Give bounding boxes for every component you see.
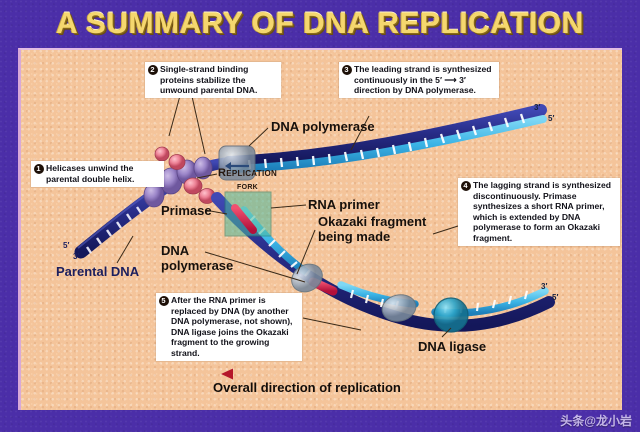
label-okazaki-fragment-line2: being made (318, 230, 390, 244)
label-parental-dna: Parental DNA (56, 265, 139, 279)
end-label-leading-5-prime: 5′ (548, 114, 554, 123)
callout-4-number: 4 (461, 181, 471, 191)
label-dna-polymerase-lagging-line2: polymerase (161, 259, 233, 273)
callout-1-text: Helicases unwind the parental double hel… (46, 163, 134, 184)
label-primase: Primase (161, 204, 212, 218)
label-dna-polymerase-lagging-line1: DNA (161, 244, 189, 258)
watermark: 头条@龙小岩 (560, 412, 632, 429)
callout-5-text: After the RNA primer is replaced by DNA … (171, 295, 292, 358)
primase-complex (225, 192, 271, 236)
label-dna-ligase: DNA ligase (418, 340, 486, 354)
diagram-frame: A SUMMARY OF DNA REPLICATION (0, 0, 640, 432)
end-label-lagging-3-prime: 3′ (541, 282, 547, 291)
overall-direction-arrow (221, 369, 435, 380)
label-dna-polymerase-leading: DNA polymerase (271, 120, 375, 134)
diagram-panel: 1 Helicases unwind the parental double h… (18, 48, 622, 410)
overall-direction-caption: Overall direction of replication (213, 380, 401, 395)
callout-5: 5 After the RNA primer is replaced by DN… (156, 293, 302, 361)
callout-1-number: 1 (34, 164, 44, 174)
end-label-parental-3-prime: 3′ (73, 252, 79, 261)
end-label-leading-3-prime: 3′ (534, 103, 540, 112)
page-title: A SUMMARY OF DNA REPLICATION (0, 3, 640, 45)
callout-3: 3 The leading strand is synthesized cont… (339, 62, 499, 98)
callout-1: 1 Helicases unwind the parental double h… (31, 161, 164, 187)
end-label-parental-5-prime: 5′ (63, 241, 69, 250)
callout-4: 4 The lagging strand is synthesized disc… (458, 178, 620, 246)
callout-2-text: Single-strand binding proteins stabilize… (160, 64, 257, 95)
callout-5-number: 5 (159, 296, 169, 306)
end-label-lagging-5-prime: 5′ (552, 293, 558, 302)
callout-3-number: 3 (342, 65, 352, 75)
callout-4-text: The lagging strand is synthesized discon… (473, 180, 611, 243)
label-okazaki-fragment-line1: Okazaki fragment (318, 215, 426, 229)
callout-2: 2 Single-strand binding proteins stabili… (145, 62, 281, 98)
label-replication-fork-line1: Replication (218, 168, 277, 180)
label-rna-primer: RNA primer (308, 198, 380, 212)
dna-ligase-protein (434, 298, 468, 332)
callout-2-number: 2 (148, 65, 158, 75)
callout-3-text: The leading strand is synthesized contin… (354, 64, 492, 95)
label-replication-fork-line2: fork (237, 182, 258, 193)
